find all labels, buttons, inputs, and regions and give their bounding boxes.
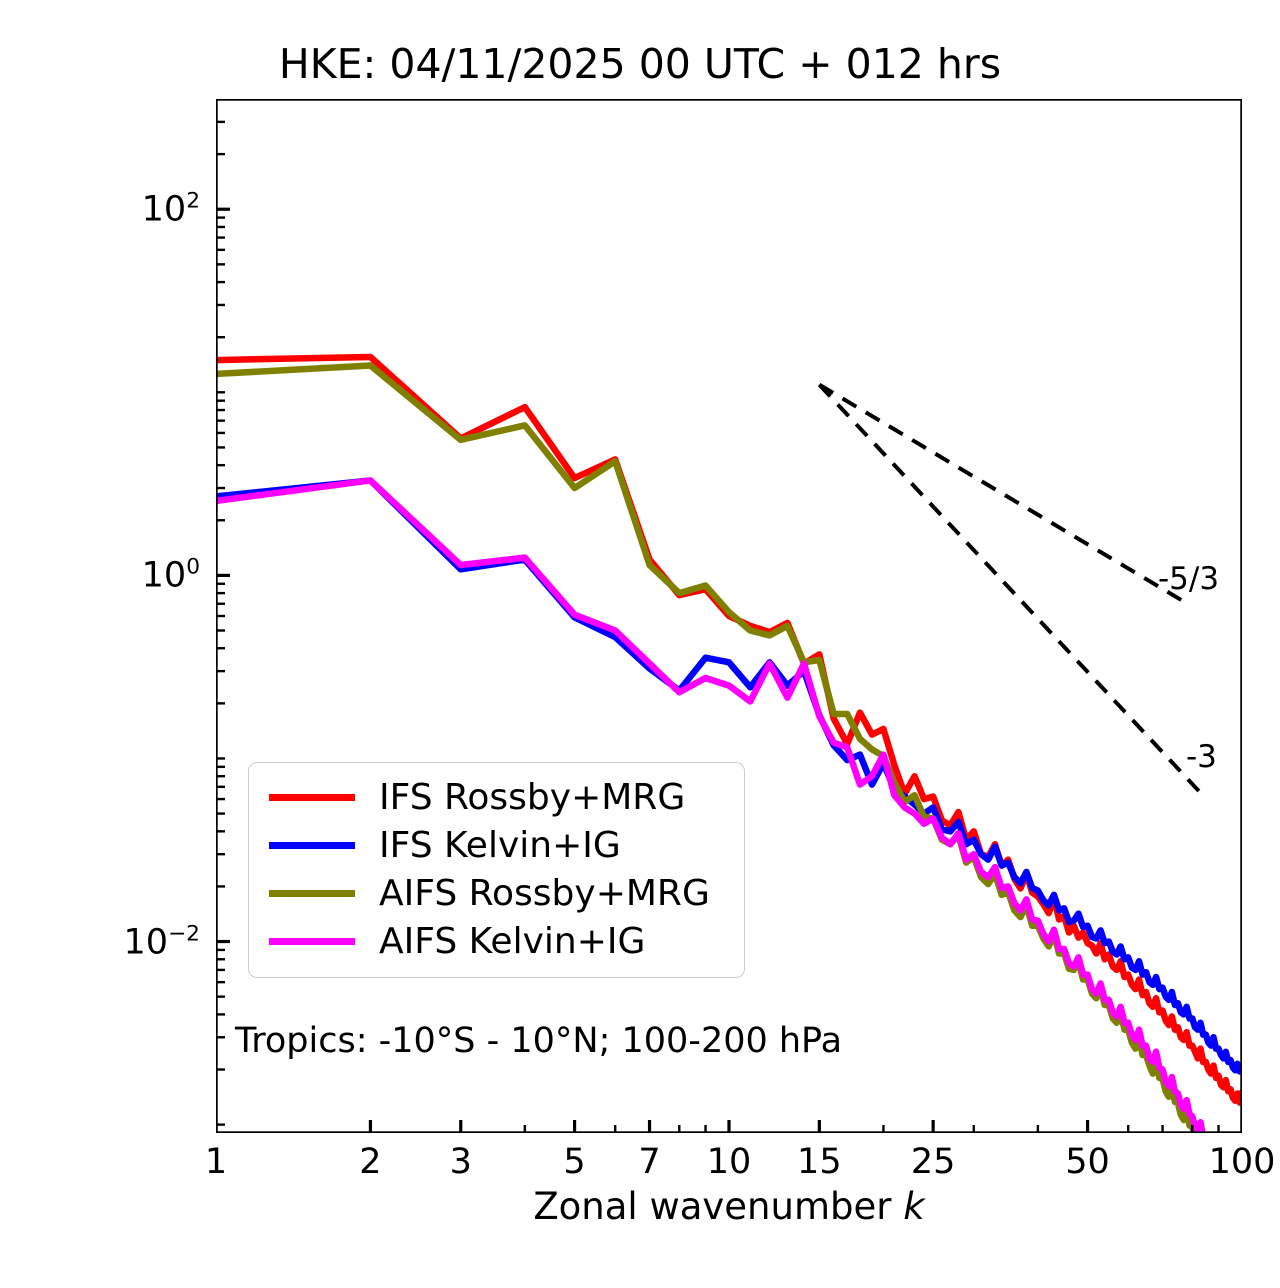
legend-item[interactable]: AIFS Kelvin+IG [249, 917, 744, 965]
legend-item[interactable]: IFS Rossby+MRG [249, 773, 744, 821]
legend[interactable]: IFS Rossby+MRG IFS Kelvin+IG AIFS Rossby… [248, 762, 745, 978]
chart-root: HKE: 04/11/2025 00 UTC + 012 hrs Horizon… [0, 0, 1280, 1288]
slope-line-five-thirds [819, 385, 1186, 603]
x-tick-label: 10 [707, 1142, 752, 1182]
y-tick-label: 102 [96, 189, 200, 230]
legend-label-aifs-rossby-mrg: AIFS Rossby+MRG [379, 873, 710, 914]
region-annotation: Tropics: -10°S - 10°N; 100-200 hPa [235, 1021, 842, 1061]
x-tick-label: 5 [563, 1142, 585, 1182]
x-tick-label: 3 [450, 1142, 472, 1182]
y-tick-label: 10−2 [96, 921, 200, 962]
x-tick-label: 15 [797, 1142, 842, 1182]
x-axis-label-text: Zonal wavenumber [533, 1185, 903, 1228]
legend-item[interactable]: IFS Kelvin+IG [249, 821, 744, 869]
legend-item[interactable]: AIFS Rossby+MRG [249, 869, 744, 917]
x-tick-label: 1 [205, 1142, 227, 1182]
legend-swatch-aifs-rossby-mrg [269, 890, 355, 897]
legend-swatch-ifs-rossby-mrg [269, 794, 355, 801]
legend-swatch-aifs-kelvin-ig [269, 938, 355, 945]
legend-label-ifs-kelvin-ig: IFS Kelvin+IG [379, 825, 621, 866]
legend-label-aifs-kelvin-ig: AIFS Kelvin+IG [379, 921, 645, 962]
series-group [216, 357, 1242, 1133]
legend-label-ifs-rossby-mrg: IFS Rossby+MRG [379, 777, 685, 818]
slope-annotation-label: -5/3 [1158, 561, 1219, 597]
x-tick-label: 25 [911, 1142, 956, 1182]
x-tick-label: 50 [1065, 1142, 1110, 1182]
legend-swatch-ifs-kelvin-ig [269, 842, 355, 849]
y-tick-label: 100 [96, 555, 200, 596]
chart-title: HKE: 04/11/2025 00 UTC + 012 hrs [0, 40, 1280, 88]
slope-annotation-label: -3 [1186, 739, 1217, 775]
x-tick-label: 7 [638, 1142, 660, 1182]
x-tick-label: 100 [1209, 1142, 1276, 1182]
x-tick-label: 2 [359, 1142, 381, 1182]
x-axis-label: Zonal wavenumber k [216, 1185, 1242, 1228]
x-axis-label-symbol: k [903, 1185, 924, 1228]
